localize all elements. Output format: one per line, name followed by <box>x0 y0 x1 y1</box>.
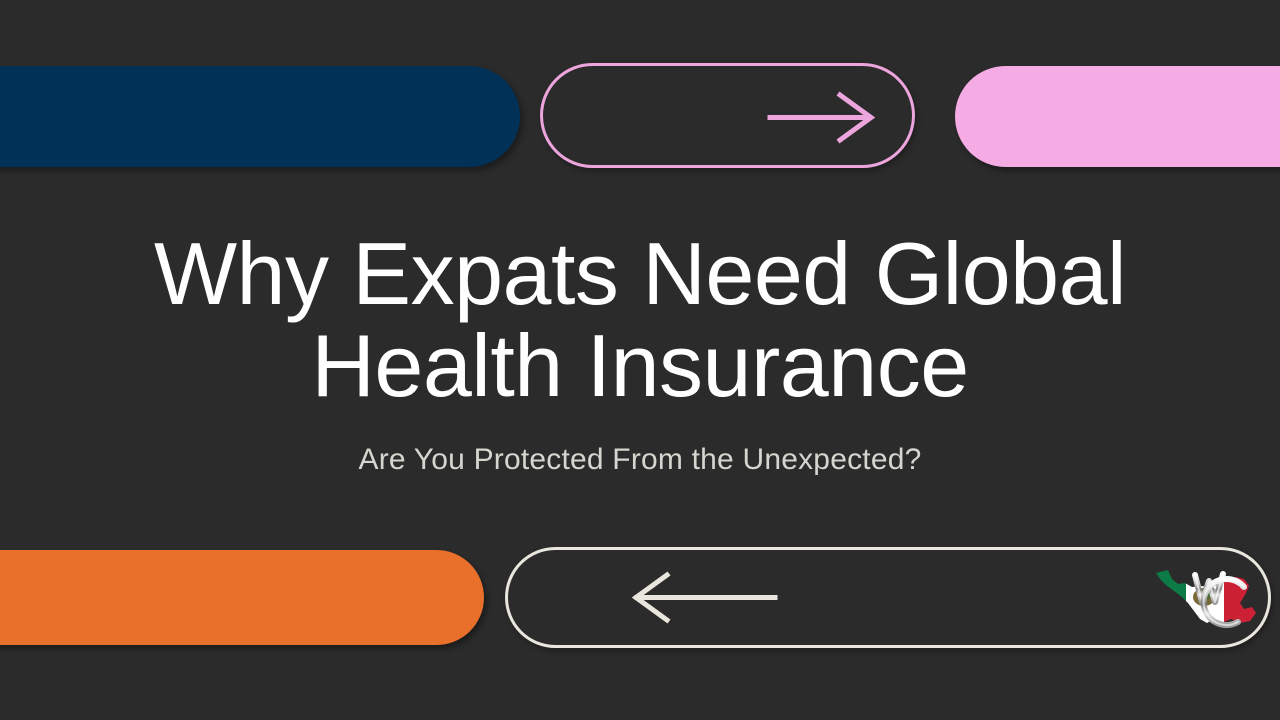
page-subtitle: Are You Protected From the Unexpected? <box>0 412 1280 478</box>
arrow-left-icon <box>625 570 780 630</box>
arrow-right-icon <box>765 90 880 150</box>
page-title: Why Expats Need Global Health Insurance <box>0 228 1280 412</box>
title-block: Why Expats Need Global Health Insurance … <box>0 228 1280 478</box>
slide-canvas: Why Expats Need Global Health Insurance … <box>0 0 1280 720</box>
orange-pill <box>0 550 484 645</box>
mexico-wc-logo <box>1152 557 1262 642</box>
pink-solid-pill <box>955 66 1280 167</box>
navy-pill <box>0 66 520 167</box>
